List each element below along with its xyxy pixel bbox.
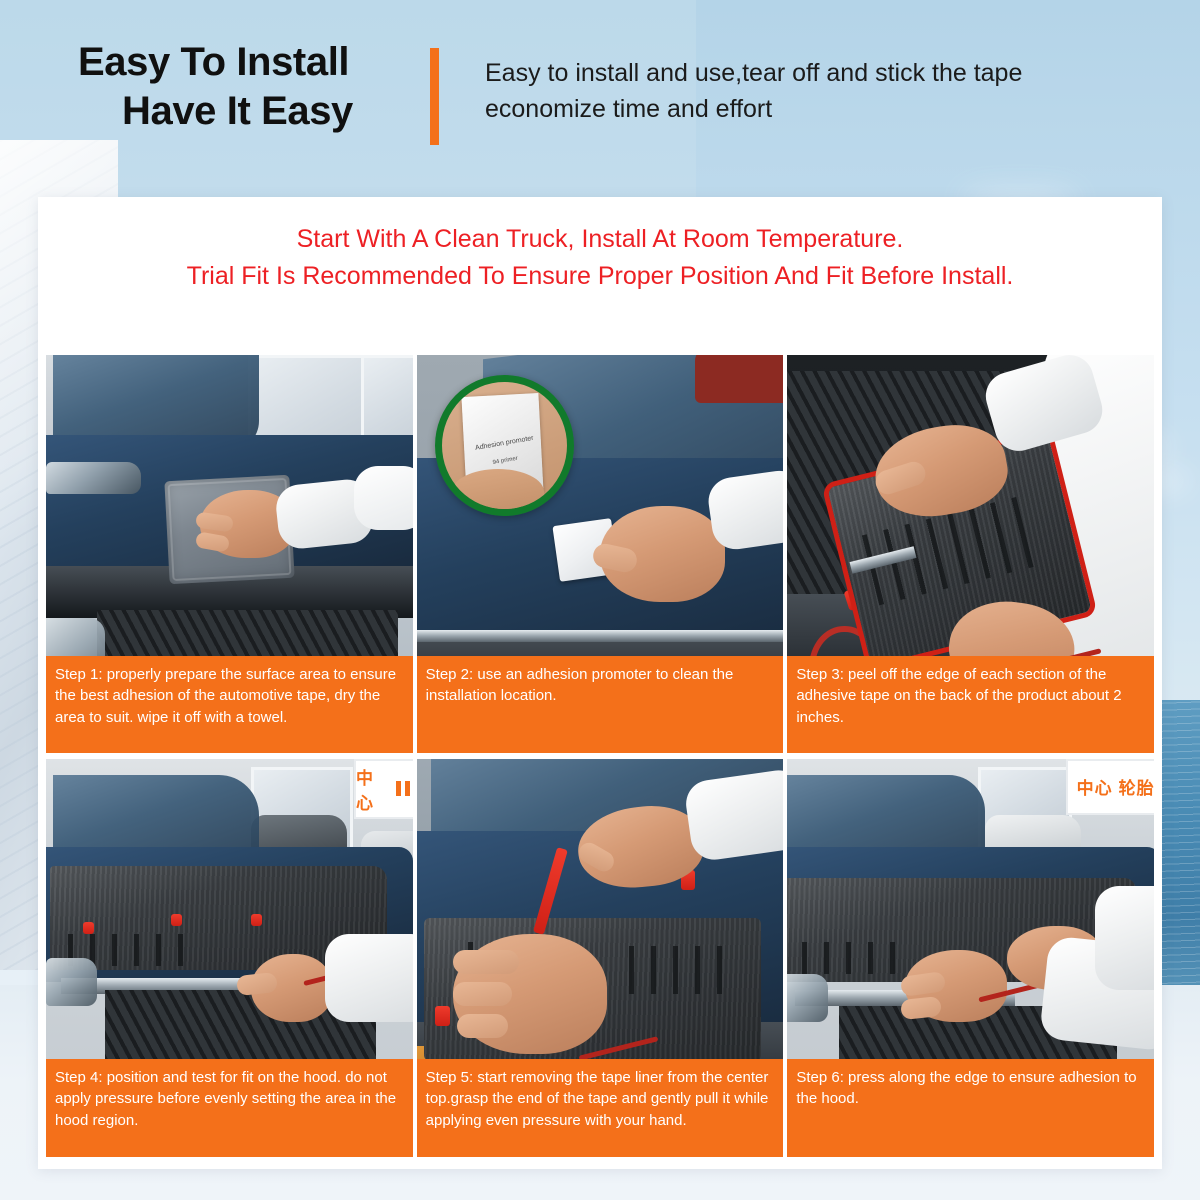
shop-sign-glyph-left: 中心: [1077, 774, 1113, 799]
step-tile-2[interactable]: Adhesion promoter 94 primer Step 2: use …: [417, 355, 784, 753]
step-tile-3[interactable]: Step 3: peel off the edge of each sectio…: [787, 355, 1154, 753]
subtitle-block: Easy to install and use,tear off and sti…: [439, 0, 1200, 127]
step-tile-5[interactable]: Step 5: start removing the tape liner fr…: [417, 759, 784, 1157]
shop-sign: 中心: [354, 759, 413, 819]
step-caption-6: Step 6: press along the edge to ensure a…: [787, 1059, 1154, 1157]
notice-line-2: Trial Fit Is Recommended To Ensure Prope…: [68, 258, 1132, 295]
step-caption-3: Step 3: peel off the edge of each sectio…: [787, 656, 1154, 753]
step-caption-4: Step 4: position and test for fit on the…: [46, 1059, 413, 1157]
shop-sign-glyph-left: 中心: [356, 764, 390, 814]
headline-block: Easy To Install Have It Easy: [0, 0, 420, 136]
headline-line-1: Easy To Install: [70, 38, 420, 87]
shop-sign-bars: [396, 781, 413, 796]
header-subtitle: Easy to install and use,tear off and sti…: [485, 56, 1145, 127]
step-tile-1[interactable]: Step 1: properly prepare the surface are…: [46, 355, 413, 753]
shop-sign-glyph-right: 轮胎: [1119, 774, 1154, 799]
step-tile-6[interactable]: 中心 轮胎 Step 6: press al: [787, 759, 1154, 1157]
adhesion-promoter-callout: Adhesion promoter 94 primer: [435, 375, 574, 516]
step-caption-2: Step 2: use an adhesion promoter to clea…: [417, 656, 784, 753]
page-header: Easy To Install Have It Easy Easy to ins…: [0, 0, 1200, 190]
shop-sign: 中心 轮胎: [1066, 759, 1154, 815]
step-caption-5: Step 5: start removing the tape liner fr…: [417, 1059, 784, 1157]
install-notice: Start With A Clean Truck, Install At Roo…: [38, 197, 1162, 309]
headline-line-2: Have It Easy: [70, 87, 420, 136]
steps-grid: Step 1: properly prepare the surface are…: [42, 355, 1158, 1157]
step-tile-4[interactable]: 中心: [46, 759, 413, 1157]
header-divider-bar: [430, 48, 439, 145]
step-caption-1: Step 1: properly prepare the surface are…: [46, 656, 413, 753]
notice-line-1: Start With A Clean Truck, Install At Roo…: [68, 221, 1132, 258]
steps-card: Start With A Clean Truck, Install At Roo…: [38, 197, 1162, 1169]
